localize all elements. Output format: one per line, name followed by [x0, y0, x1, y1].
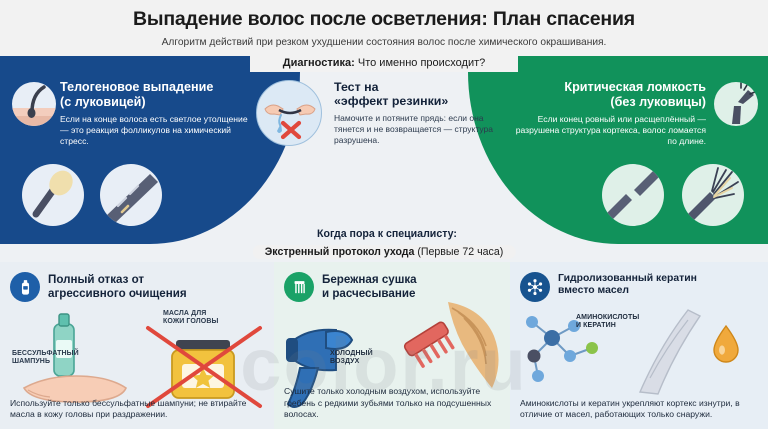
panel-critical-breakage: Критическая ломкость (без луковицы) Если…	[468, 72, 768, 244]
step3-title-l1: Гидролизованный кератин	[558, 273, 697, 285]
telogen-title-l2: (с луковицей)	[60, 95, 250, 110]
page-header: Выпадение волос после осветления: План с…	[0, 0, 768, 56]
step-gentle-drying: Бережная сушка и расчесывание ХОЛОДНЫЙ В…	[274, 262, 510, 429]
diagnostics-label: Диагностика: Что именно происходит?	[269, 56, 500, 70]
breakage-title-l2: (без луковицы)	[510, 95, 706, 110]
diagnostics-section: Телогеновое выпадение (с луковицей) Если…	[0, 72, 768, 244]
breakage-description: Если конец ровный или расщеплённый — раз…	[510, 114, 706, 148]
bottle-icon	[10, 272, 40, 302]
breakage-head: Критическая ломкость (без луковицы) Если…	[510, 80, 706, 147]
protocol-label-rest: (Первые 72 часа)	[414, 246, 503, 258]
telogen-head: Телогеновое выпадение (с луковицей) Если…	[60, 80, 250, 147]
step1-title-l1: Полный отказ от	[48, 273, 187, 287]
panel-telogen-shedding: Телогеновое выпадение (с луковицей) Если…	[0, 72, 300, 244]
step3-caption: Аминокислоты и кератин укрепляют кортекс…	[520, 398, 758, 421]
protocol-label-bold: Экстренный протокол ухода	[265, 246, 415, 258]
rubber-band-title-l1: Тест на	[334, 80, 512, 94]
step1-head: Полный отказ от агрессивного очищения	[0, 262, 274, 302]
protocol-steps: Полный отказ от агрессивного очищения БЕ…	[0, 262, 768, 429]
hair-follicle-icon	[12, 82, 56, 126]
hair-bulb-illustration	[22, 164, 84, 226]
telogen-title: Телогеновое выпадение (с луковицей)	[60, 80, 250, 110]
rubber-band-text: Тест на «эффект резинки» Намочите и потя…	[334, 80, 512, 146]
split-ends-illustration	[682, 164, 744, 226]
stretch-test-icon	[256, 80, 322, 146]
specialist-table-title: Когда пора к специалисту:	[196, 228, 578, 240]
step1-title: Полный отказ от агрессивного очищения	[48, 272, 187, 301]
protocol-label: Экстренный протокол ухода (Первые 72 час…	[253, 245, 516, 259]
label-sulfate-free-shampoo: БЕССУЛЬФАТНЫЙ ШАМПУНЬ	[12, 350, 92, 367]
label-sulfate-free-l2: ШАМПУНЬ	[12, 358, 92, 366]
label-scalp-oils-l1: МАСЛА ДЛЯ	[163, 310, 259, 318]
step2-title-l1: Бережная сушка	[322, 273, 417, 287]
band-left-blue	[0, 56, 250, 72]
diagnostics-label-bold: Диагностика:	[283, 57, 355, 69]
breakage-title-l1: Критическая ломкость	[510, 80, 706, 95]
page-title: Выпадение волос после осветления: План с…	[0, 0, 768, 31]
telogen-title-l1: Телогеновое выпадение	[60, 80, 250, 95]
hair-strand-oil-illustration	[630, 300, 760, 401]
comb-icon	[284, 272, 314, 302]
diagnostics-label-rest: Что именно происходит?	[355, 57, 485, 69]
snapped-hair-illustration	[602, 164, 664, 226]
rubber-band-description: Намочите и потяните прядь: если она тяне…	[334, 113, 512, 147]
label-scalp-oils-forbidden: МАСЛА ДЛЯ КОЖИ ГОЛОВЫ	[163, 310, 259, 327]
step1-title-l2: агрессивного очищения	[48, 287, 187, 301]
rubber-band-title: Тест на «эффект резинки»	[334, 80, 512, 109]
step3-title-l2: вместо масел	[558, 285, 697, 297]
step3-title: Гидролизованный кератин вместо масел	[558, 272, 697, 298]
rubber-band-title-l2: «эффект резинки»	[334, 94, 512, 108]
telogen-description: Если на конце волоса есть светлое утолще…	[60, 114, 250, 148]
step-no-aggressive-cleansing: Полный отказ от агрессивного очищения БЕ…	[0, 262, 274, 429]
label-scalp-oils-l2: КОЖИ ГОЛОВЫ	[163, 318, 259, 326]
damaged-shaft-illustration	[100, 164, 162, 226]
breakage-title: Критическая ломкость (без луковицы)	[510, 80, 706, 110]
step2-caption: Сушите только холодным воздухом, использ…	[284, 386, 500, 421]
label-sulfate-free-l1: БЕССУЛЬФАТНЫЙ	[12, 350, 92, 358]
step1-caption: Используйте только бессульфатные шампуни…	[10, 398, 264, 421]
band-right-green	[518, 56, 768, 72]
molecule-icon	[520, 272, 550, 302]
step3-head: Гидролизованный кератин вместо масел	[510, 262, 768, 302]
step-hydrolyzed-keratin: Гидролизованный кератин вместо масел	[510, 262, 768, 429]
page-subtitle: Алгоритм действий при резком ухудшении с…	[0, 31, 768, 48]
broken-hair-icon	[714, 82, 758, 126]
infographic-page: Выпадение волос после осветления: План с…	[0, 0, 768, 429]
